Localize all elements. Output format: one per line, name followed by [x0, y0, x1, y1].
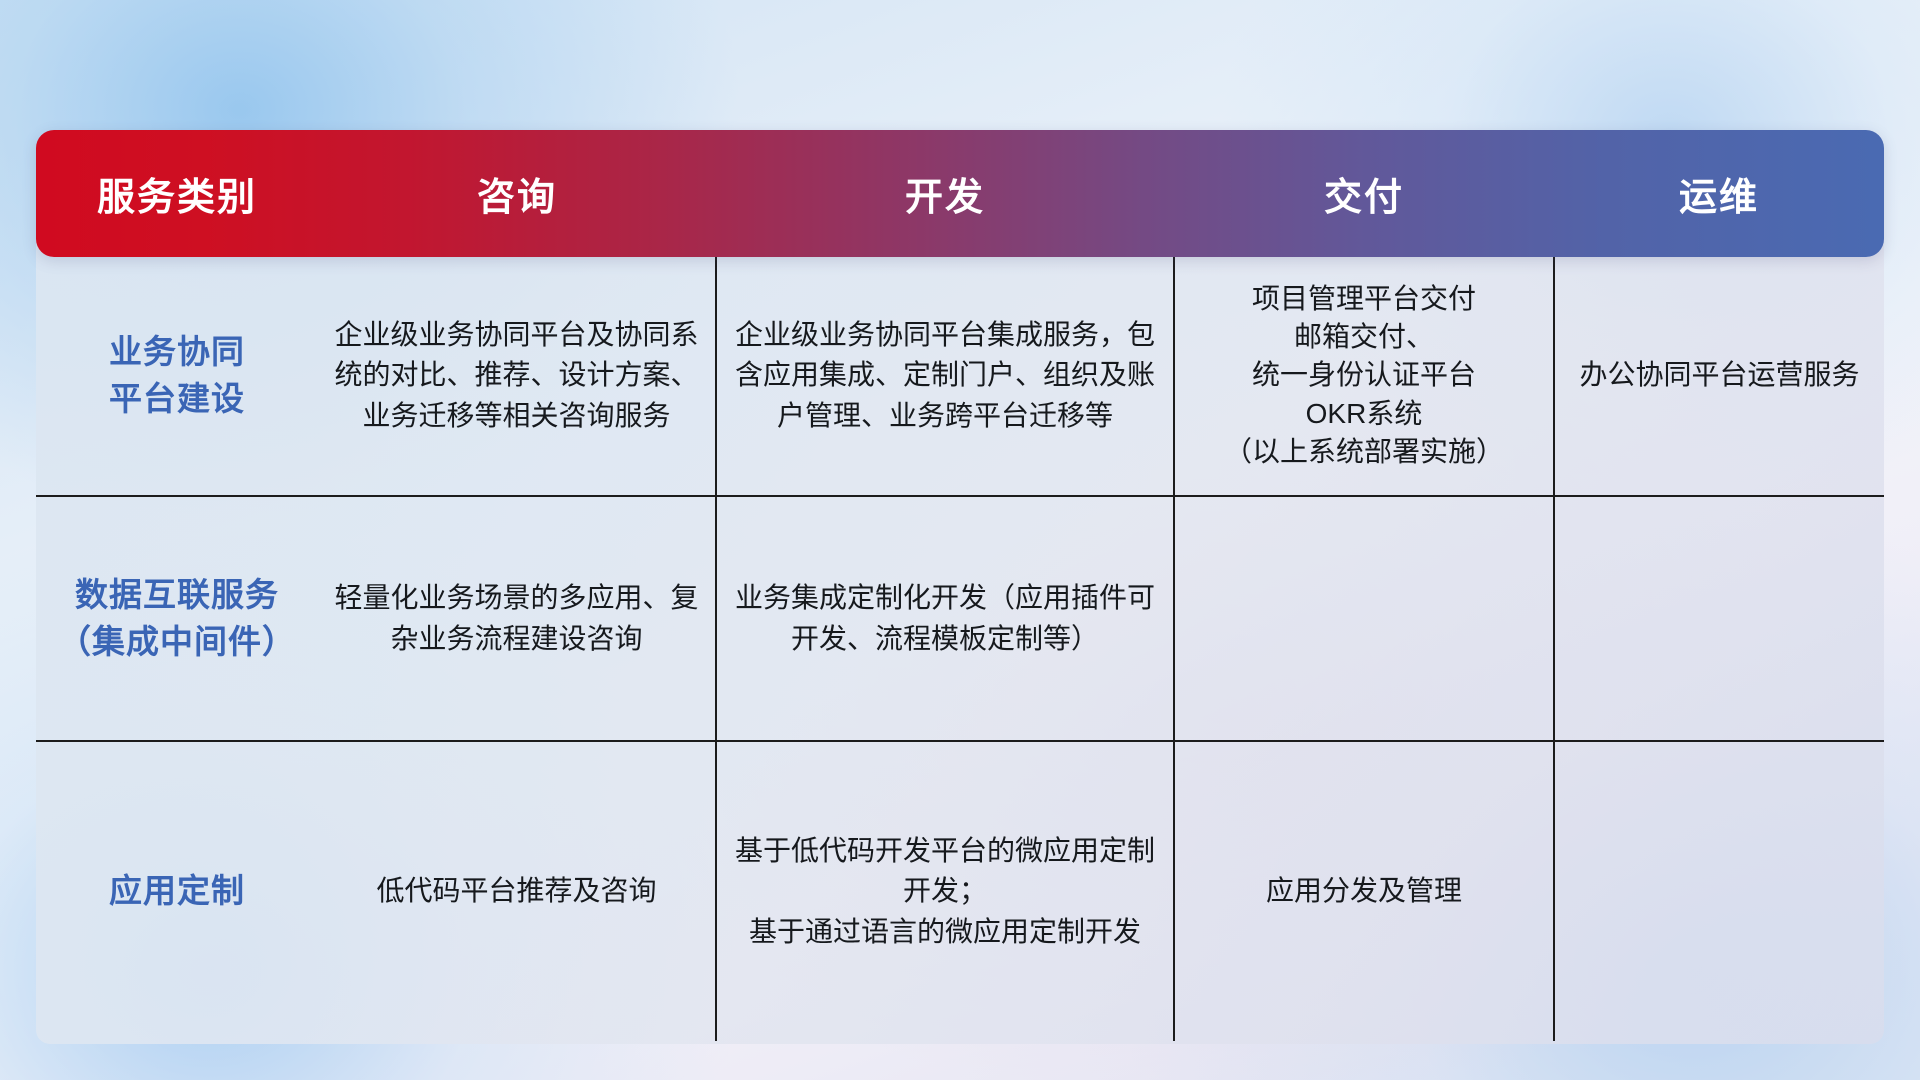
column-header-operations: 运维 — [1554, 166, 1884, 221]
cell-delivery — [1174, 496, 1554, 741]
row-category-line: 平台建设 — [50, 376, 304, 423]
cell-text: 企业级业务协同平台及协同系统的对比、推荐、设计方案、业务迁移等相关咨询服务 — [332, 315, 701, 436]
cell-text: 基于低代码开发平台的微应用定制开发； 基于通过语言的微应用定制开发 — [731, 831, 1159, 952]
cell-text: 办公协同平台运营服务 — [1569, 355, 1870, 395]
cell-text: 轻量化业务场景的多应用、复杂业务流程建设咨询 — [332, 578, 701, 659]
cell-text: 项目管理平台交付 邮箱交付、 统一身份认证平台 OKR系统 （以上系统部署实施） — [1189, 280, 1539, 470]
service-matrix-table: 服务类别 咨询 开发 交付 运维 业务协同 平台建设 — [36, 130, 1884, 1041]
cell-consulting: 企业级业务协同平台及协同系统的对比、推荐、设计方案、业务迁移等相关咨询服务 — [318, 256, 716, 496]
row-category-label: 应用定制 — [50, 868, 304, 915]
cell-development: 基于低代码开发平台的微应用定制开发； 基于通过语言的微应用定制开发 — [716, 741, 1174, 1041]
row-category-label: 业务协同 平台建设 — [50, 329, 304, 423]
table-row: 数据互联服务 （集成中间件） 轻量化业务场景的多应用、复杂业务流程建设咨询 业务… — [36, 496, 1884, 741]
row-category-label: 数据互联服务 （集成中间件） — [50, 572, 304, 666]
cell-text-line: 基于低代码开发平台的微应用定制开发； — [731, 831, 1159, 912]
cell-text-line: 基于通过语言的微应用定制开发 — [731, 912, 1159, 952]
cell-consulting: 轻量化业务场景的多应用、复杂业务流程建设咨询 — [318, 496, 716, 741]
column-header-development: 开发 — [716, 166, 1174, 221]
row-category-line: （集成中间件） — [50, 619, 304, 666]
cell-development: 业务集成定制化开发（应用插件可开发、流程模板定制等） — [716, 496, 1174, 741]
cell-delivery: 项目管理平台交付 邮箱交付、 统一身份认证平台 OKR系统 （以上系统部署实施） — [1174, 256, 1554, 496]
cell-development: 企业级业务协同平台集成服务，包含应用集成、定制门户、组织及账户管理、业务跨平台迁… — [716, 256, 1174, 496]
cell-operations — [1554, 741, 1884, 1041]
column-header-delivery: 交付 — [1174, 166, 1554, 221]
cell-text-line: （以上系统部署实施） — [1189, 433, 1539, 471]
cell-text: 低代码平台推荐及咨询 — [332, 871, 701, 911]
row-category-cell: 应用定制 — [36, 741, 318, 1041]
row-category-line: 业务协同 — [50, 329, 304, 376]
matrix-grid: 业务协同 平台建设 企业级业务协同平台及协同系统的对比、推荐、设计方案、业务迁移… — [36, 256, 1884, 1041]
cell-text-line: 邮箱交付、 — [1189, 318, 1539, 356]
table-row: 业务协同 平台建设 企业级业务协同平台及协同系统的对比、推荐、设计方案、业务迁移… — [36, 256, 1884, 496]
cell-text-line: OKR系统 — [1189, 395, 1539, 433]
table-row: 应用定制 低代码平台推荐及咨询 基于低代码开发平台的微应用定制开发； 基于通过语… — [36, 741, 1884, 1041]
cell-text: 企业级业务协同平台集成服务，包含应用集成、定制门户、组织及账户管理、业务跨平台迁… — [731, 315, 1159, 436]
cell-operations — [1554, 496, 1884, 741]
cell-text-line: 项目管理平台交付 — [1189, 280, 1539, 318]
row-category-line: 数据互联服务 — [50, 572, 304, 619]
table-header-row: 服务类别 咨询 开发 交付 运维 — [36, 130, 1884, 257]
cell-consulting: 低代码平台推荐及咨询 — [318, 741, 716, 1041]
cell-delivery: 应用分发及管理 — [1174, 741, 1554, 1041]
cell-operations: 办公协同平台运营服务 — [1554, 256, 1884, 496]
row-category-line: 应用定制 — [50, 868, 304, 915]
cell-text: 应用分发及管理 — [1189, 871, 1539, 911]
row-category-cell: 数据互联服务 （集成中间件） — [36, 496, 318, 741]
column-header-category: 服务类别 — [36, 166, 318, 221]
cell-text: 业务集成定制化开发（应用插件可开发、流程模板定制等） — [731, 578, 1159, 659]
row-category-cell: 业务协同 平台建设 — [36, 256, 318, 496]
cell-text-line: 统一身份认证平台 — [1189, 356, 1539, 394]
column-header-consulting: 咨询 — [318, 166, 716, 221]
